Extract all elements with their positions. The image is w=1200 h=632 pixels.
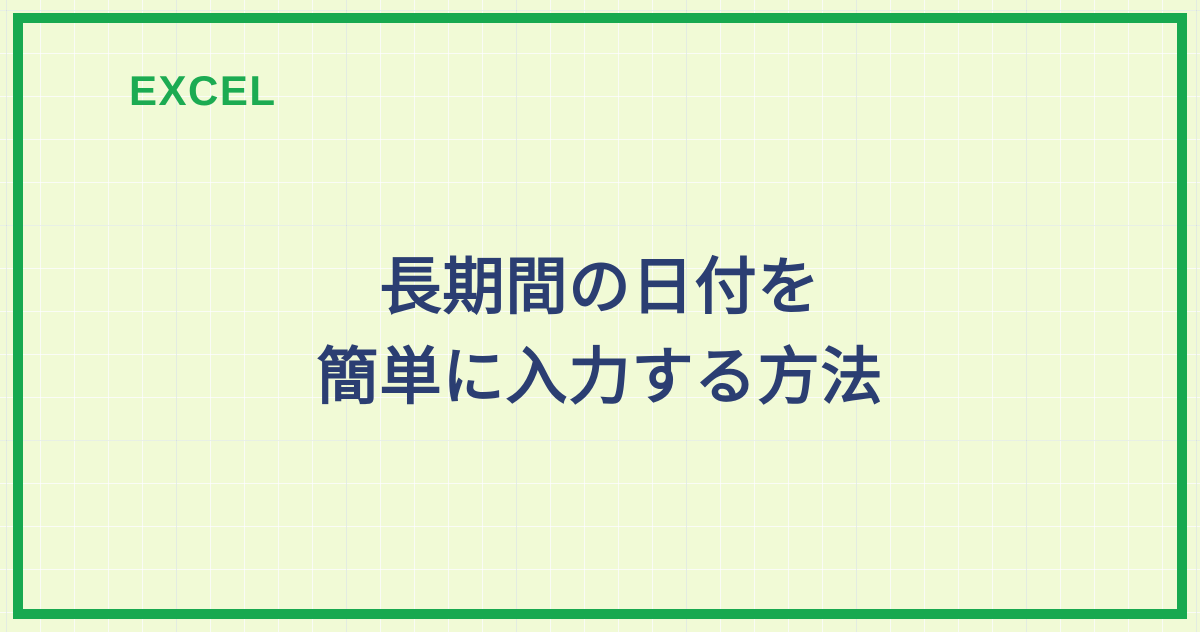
headline-line-2: 簡単に入力する方法 — [0, 333, 1200, 423]
thumbnail-card: EXCEL 長期間の日付を 簡単に入力する方法 — [0, 0, 1200, 632]
category-label: EXCEL — [129, 69, 277, 113]
headline: 長期間の日付を 簡単に入力する方法 — [0, 243, 1200, 423]
headline-line-1: 長期間の日付を — [0, 243, 1200, 333]
